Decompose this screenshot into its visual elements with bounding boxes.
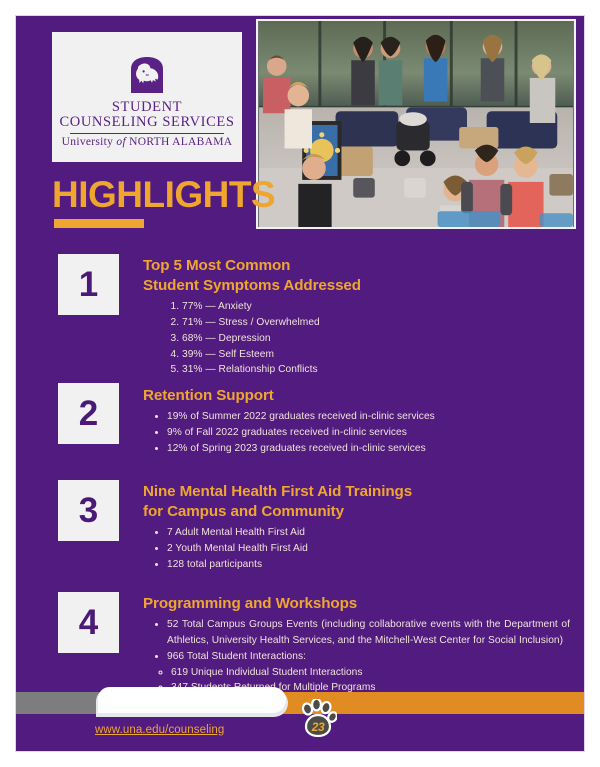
- section-list-4: 52 Total Campus Groups Events (including…: [152, 617, 570, 664]
- logo-card: STUDENT COUNSELING SERVICES University o…: [52, 32, 242, 162]
- section-number-badge-3: 3: [58, 480, 119, 541]
- students-group-photo: [256, 19, 576, 229]
- lion-logo-icon: [125, 55, 169, 95]
- title-underline-bar: [54, 219, 144, 228]
- section-title-line-1: Top 5 Most Common: [143, 256, 570, 276]
- list-item: 52 Total Campus Groups Events (including…: [167, 617, 570, 649]
- sub-list-item: 619 Unique Individual Student Interactio…: [171, 665, 570, 681]
- section-title-line-1: Retention Support: [143, 386, 570, 406]
- logo-line-3-post: NORTH ALABAMA: [126, 136, 232, 148]
- section-list-2: 19% of Summer 2022 graduates received in…: [152, 409, 570, 456]
- section-list-1: 77% — Anxiety 71% — Stress / Overwhelmed…: [156, 299, 570, 378]
- logo-line-3-pre: University: [62, 136, 117, 148]
- section-title-line-2: Student Symptoms Addressed: [143, 276, 570, 296]
- flyer-page: STUDENT COUNSELING SERVICES University o…: [15, 15, 585, 752]
- section-body-3: Nine Mental Health First Aid Trainings f…: [143, 482, 570, 573]
- section-body-1: Top 5 Most Common Student Symptoms Addre…: [143, 256, 570, 378]
- section-title-line-1: Nine Mental Health First Aid Trainings: [143, 482, 570, 502]
- logo-line-3-italic: of: [116, 136, 126, 148]
- section-body-4: Programming and Workshops 52 Total Campu…: [143, 594, 570, 696]
- footer-pill: [98, 687, 286, 713]
- list-item: 19% of Summer 2022 graduates received in…: [167, 409, 570, 425]
- list-item: 9% of Fall 2022 graduates received in-cl…: [167, 425, 570, 441]
- list-item: 966 Total Student Interactions:: [167, 649, 570, 665]
- paw-print-icon: 23: [299, 699, 337, 743]
- logo-line-3: University of NORTH ALABAMA: [62, 136, 233, 148]
- list-item: 31% — Relationship Conflicts: [182, 362, 570, 378]
- list-item: 77% — Anxiety: [182, 299, 570, 315]
- list-item: 7 Adult Mental Health First Aid: [167, 525, 570, 541]
- footer: www.una.edu/counseling 23: [16, 683, 585, 751]
- section-body-2: Retention Support 19% of Summer 2022 gra…: [143, 386, 570, 457]
- logo-line-1: STUDENT: [112, 100, 182, 116]
- section-title-1: Top 5 Most Common Student Symptoms Addre…: [143, 256, 570, 296]
- section-title-line-2: for Campus and Community: [143, 502, 570, 522]
- list-item: 2 Youth Mental Health First Aid: [167, 541, 570, 557]
- list-item: 68% — Depression: [182, 331, 570, 347]
- section-title-4: Programming and Workshops: [143, 594, 570, 614]
- list-item: 12% of Spring 2023 graduates received in…: [167, 441, 570, 457]
- section-number-badge-1: 1: [58, 254, 119, 315]
- section-number-badge-4: 4: [58, 592, 119, 653]
- page-title: HIGHLIGHTS: [52, 176, 275, 213]
- section-list-3: 7 Adult Mental Health First Aid 2 Youth …: [152, 525, 570, 572]
- list-item: 128 total participants: [167, 557, 570, 573]
- list-item: 39% — Self Esteem: [182, 347, 570, 363]
- section-title-3: Nine Mental Health First Aid Trainings f…: [143, 482, 570, 522]
- paw-year-number: 23: [299, 720, 337, 734]
- section-number-badge-2: 2: [58, 383, 119, 444]
- logo-line-2: COUNSELING SERVICES: [60, 115, 235, 131]
- section-title-2: Retention Support: [143, 386, 570, 406]
- logo-divider: [70, 133, 224, 134]
- header: STUDENT COUNSELING SERVICES University o…: [16, 16, 585, 232]
- counseling-website-link[interactable]: www.una.edu/counseling: [95, 724, 224, 736]
- section-title-line-1: Programming and Workshops: [143, 594, 570, 614]
- list-item: 71% — Stress / Overwhelmed: [182, 315, 570, 331]
